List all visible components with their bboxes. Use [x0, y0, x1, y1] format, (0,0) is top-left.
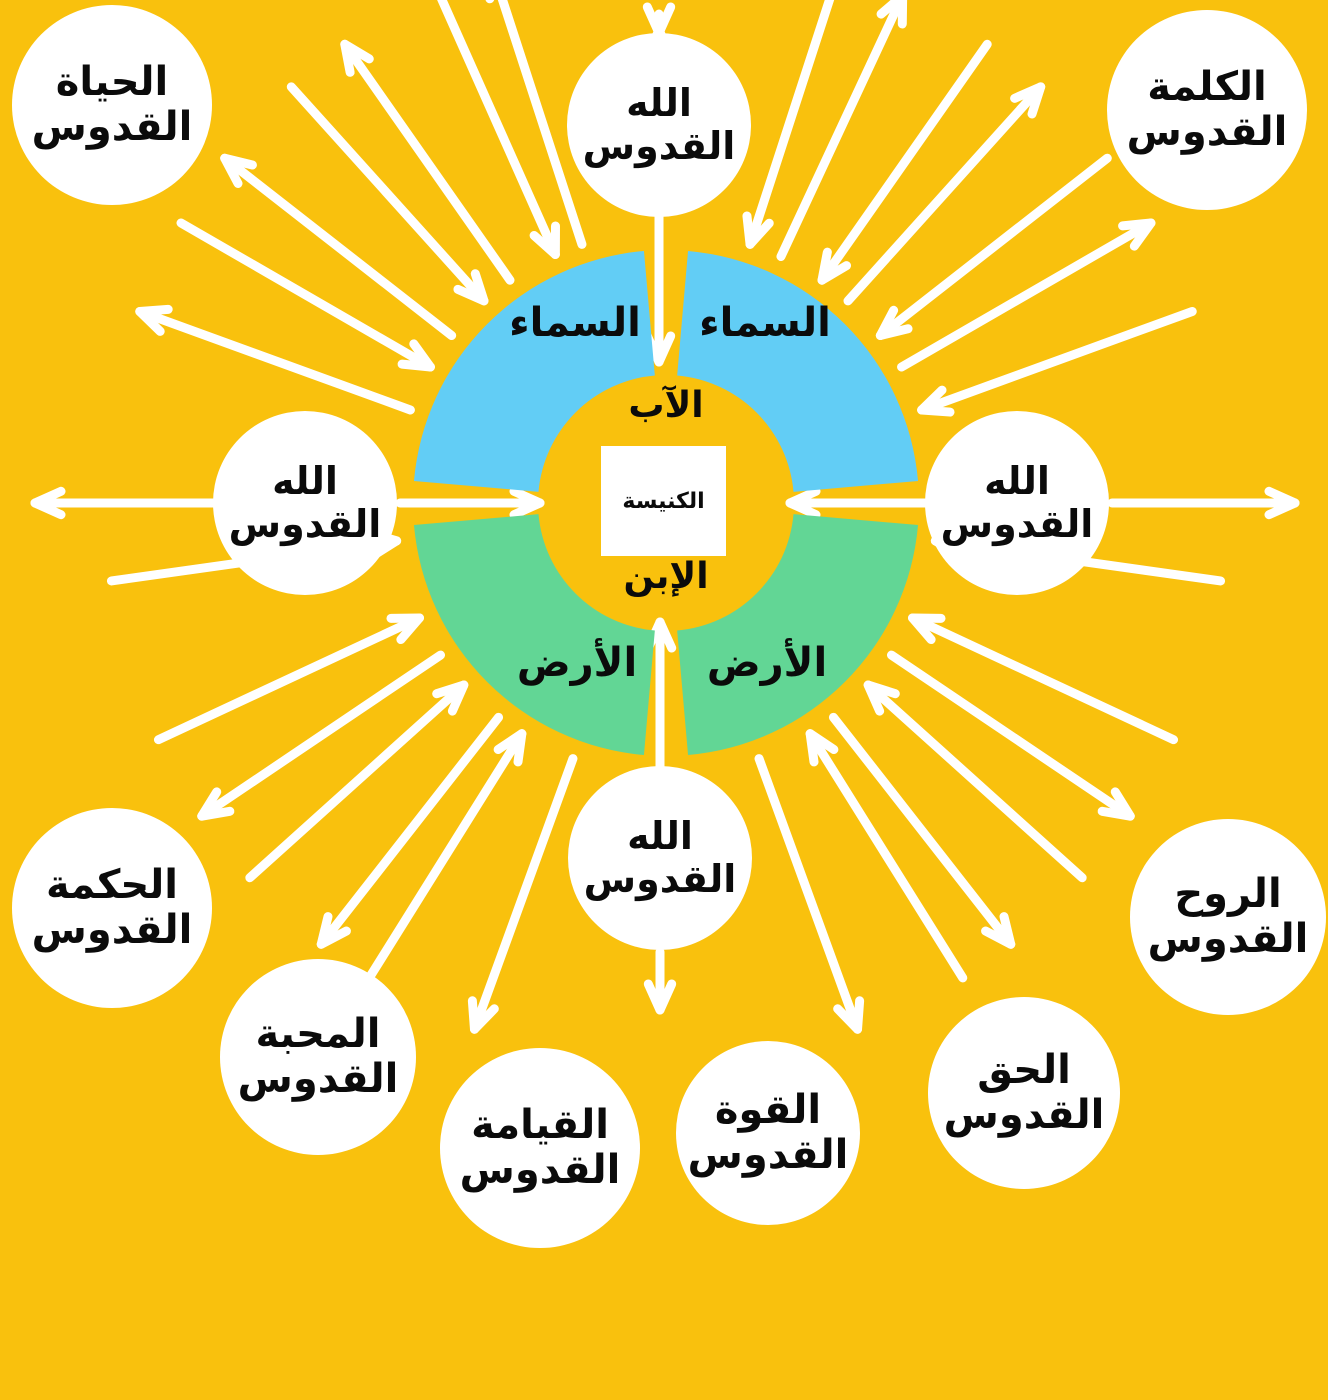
father-label: الآب: [566, 385, 766, 426]
node-label-secondary: القدوس: [460, 1148, 621, 1193]
node-label-primary: القوة: [715, 1088, 821, 1133]
node-label-secondary: القدوس: [944, 1093, 1105, 1138]
church-box: الكنيسة: [601, 446, 726, 556]
node-label-primary: الكلمة: [1147, 65, 1266, 110]
earth-left-label: الأرض: [482, 640, 672, 686]
diagram-canvas: السماء السماء الآب الإبن الأرض الأرض الك…: [0, 0, 1328, 1400]
node-label-secondary: القدوس: [229, 503, 382, 546]
node-label-secondary: القدوس: [688, 1133, 849, 1178]
node-word[interactable]: الكلمةالقدوس: [1107, 10, 1307, 210]
node-label-secondary: القدوس: [584, 858, 737, 901]
node-label-primary: الحياة: [56, 60, 169, 105]
node-label-secondary: القدوس: [32, 908, 193, 953]
son-label: الإبن: [566, 556, 766, 597]
node-wisdom[interactable]: الحكمةالقدوس: [12, 808, 212, 1008]
node-life[interactable]: الحياةالقدوس: [12, 5, 212, 205]
node-power[interactable]: القوةالقدوس: [676, 1041, 860, 1225]
church-label: الكنيسة: [622, 489, 704, 514]
node-label-secondary: القدوس: [238, 1057, 399, 1102]
node-label-secondary: القدوس: [941, 503, 1094, 546]
node-god-top[interactable]: اللهالقدوس: [567, 33, 751, 217]
node-truth[interactable]: الحقالقدوس: [928, 997, 1120, 1189]
node-label-primary: المحبة: [256, 1012, 381, 1057]
node-label-secondary: القدوس: [1127, 110, 1288, 155]
node-label-primary: الحق: [977, 1048, 1071, 1093]
node-god-bottom[interactable]: اللهالقدوس: [568, 766, 752, 950]
node-label-primary: الله: [984, 460, 1050, 503]
node-god-right[interactable]: اللهالقدوس: [925, 411, 1109, 595]
node-label-primary: الله: [626, 82, 692, 125]
heaven-left-label: السماء: [480, 300, 670, 346]
node-label-secondary: القدوس: [1148, 917, 1309, 962]
node-label-secondary: القدوس: [32, 105, 193, 150]
node-love[interactable]: المحبةالقدوس: [220, 959, 416, 1155]
node-label-primary: الحكمة: [46, 863, 178, 908]
earth-right-label: الأرض: [672, 640, 862, 686]
node-label-primary: الله: [627, 815, 693, 858]
node-god-left[interactable]: اللهالقدوس: [213, 411, 397, 595]
node-label-primary: الله: [272, 460, 338, 503]
heaven-right-label: السماء: [670, 300, 860, 346]
node-resurrection[interactable]: القيامةالقدوس: [440, 1048, 640, 1248]
node-label-secondary: القدوس: [583, 125, 736, 168]
node-spirit[interactable]: الروحالقدوس: [1130, 819, 1326, 1015]
node-label-primary: القيامة: [471, 1103, 609, 1148]
node-label-primary: الروح: [1174, 872, 1281, 917]
